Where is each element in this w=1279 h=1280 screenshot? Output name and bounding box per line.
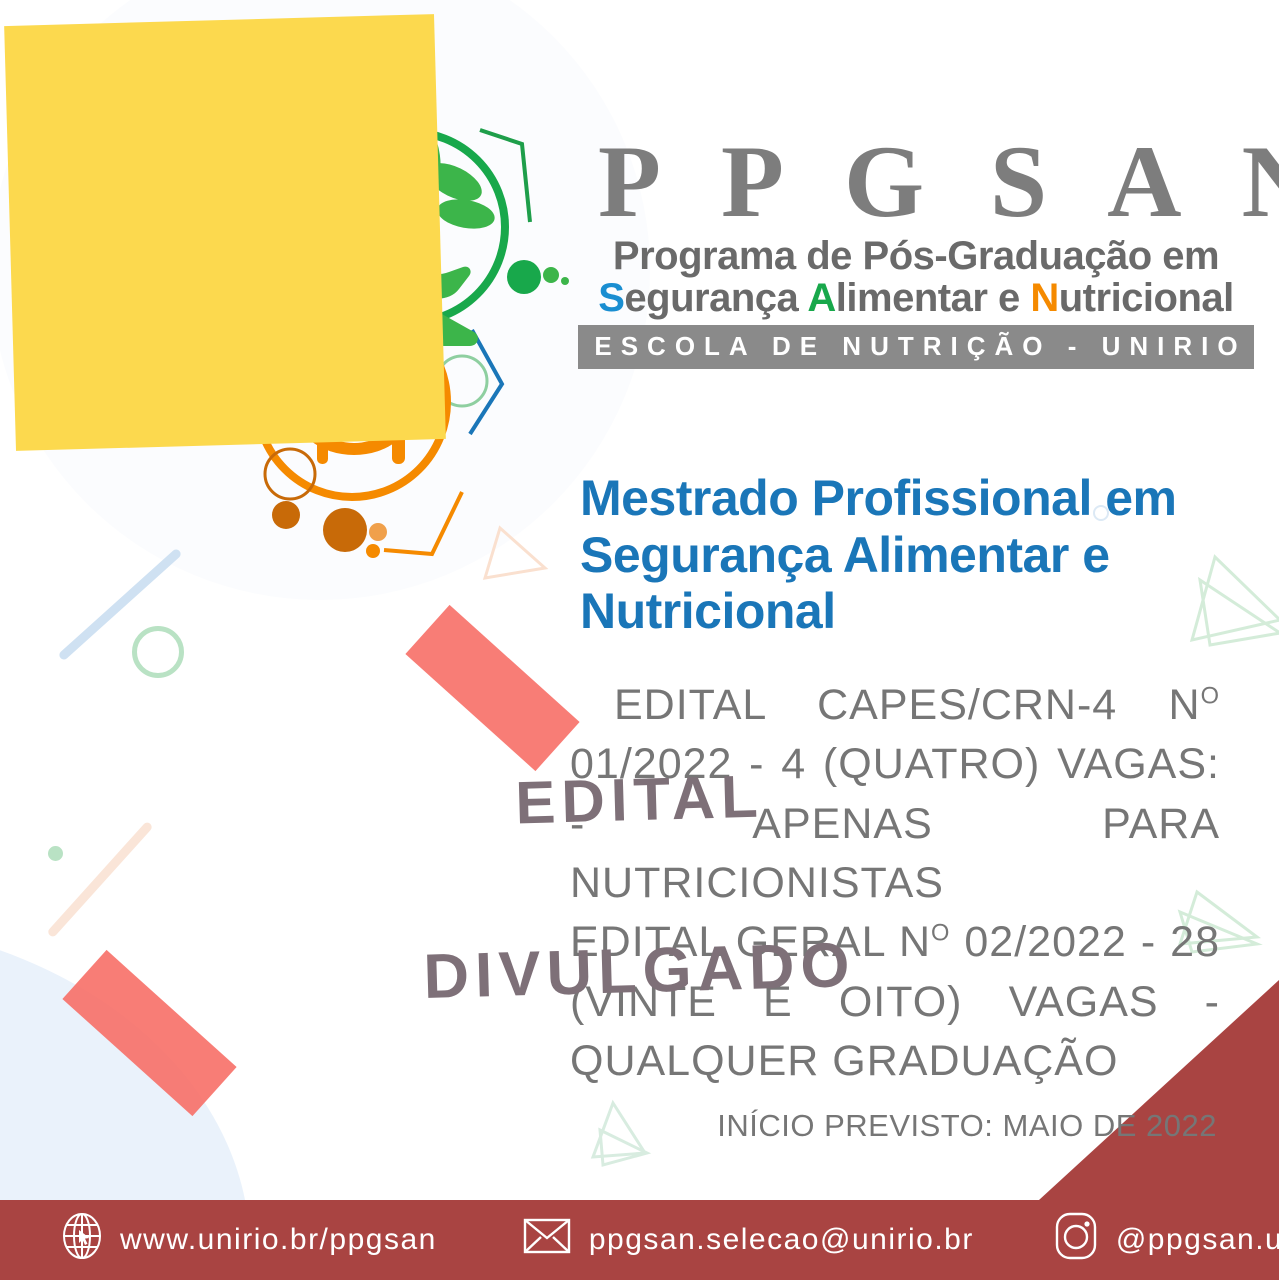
contact-instagram-label: @ppgsan.unirio (1116, 1223, 1279, 1257)
brand-acronym: P P G S A N (578, 128, 1254, 236)
brand-subtitle-line2: Segurança Alimentar e Nutricional (578, 278, 1254, 320)
contact-email-label: ppgsan.selecao@unirio.br (589, 1223, 974, 1257)
edital-body-copy: EDITAL CAPES/CRN-4 NO 01/2022 - 4 (QUATR… (570, 676, 1220, 1091)
poster-canvas: P P G S A N Programa de Pós-Graduação em… (0, 0, 1279, 1280)
instagram-icon (1054, 1211, 1098, 1269)
brand-text-limentar: limentar e (836, 276, 1031, 320)
brand-letter-a: A (807, 276, 835, 320)
contact-website-label: www.unirio.br/ppgsan (120, 1223, 437, 1257)
contact-website[interactable]: www.unirio.br/ppgsan (62, 1213, 437, 1267)
contact-email[interactable]: ppgsan.selecao@unirio.br (523, 1217, 974, 1263)
tape-top-right (405, 605, 579, 771)
sticky-note (4, 14, 446, 451)
envelope-icon (523, 1217, 571, 1263)
brand-text-utricional: utricional (1059, 276, 1234, 320)
footer-contact-bar: www.unirio.br/ppgsan ppgsan.selecao@unir… (0, 1200, 1279, 1280)
brand-letter-s: S (598, 276, 624, 320)
brand-letter-n: N (1030, 276, 1058, 320)
edital-capes-ordinal: O (1201, 684, 1220, 710)
page-title: Mestrado Profissional em Segurança Alime… (580, 470, 1260, 640)
brand-band-escola: ESCOLA DE NUTRIÇÃO - UNIRIO (578, 325, 1254, 369)
brand-block: P P G S A N Programa de Pós-Graduação em… (578, 128, 1254, 369)
decor-ring-green-1 (132, 626, 184, 678)
brand-subtitle-line1: Programa de Pós-Graduação em (578, 236, 1254, 278)
decor-line-blue-1 (58, 548, 183, 662)
globe-icon (62, 1213, 102, 1267)
brand-text-eguranca: egurança (624, 276, 807, 320)
contact-instagram[interactable]: @ppgsan.unirio (1054, 1211, 1279, 1269)
edital-capes-pre: EDITAL CAPES/CRN-4 N (614, 681, 1201, 729)
inicio-previsto-text: INÍCIO PREVISTO: MAIO DE 2022 (717, 1108, 1217, 1144)
decor-triangles-bottom-center (585, 1095, 685, 1195)
